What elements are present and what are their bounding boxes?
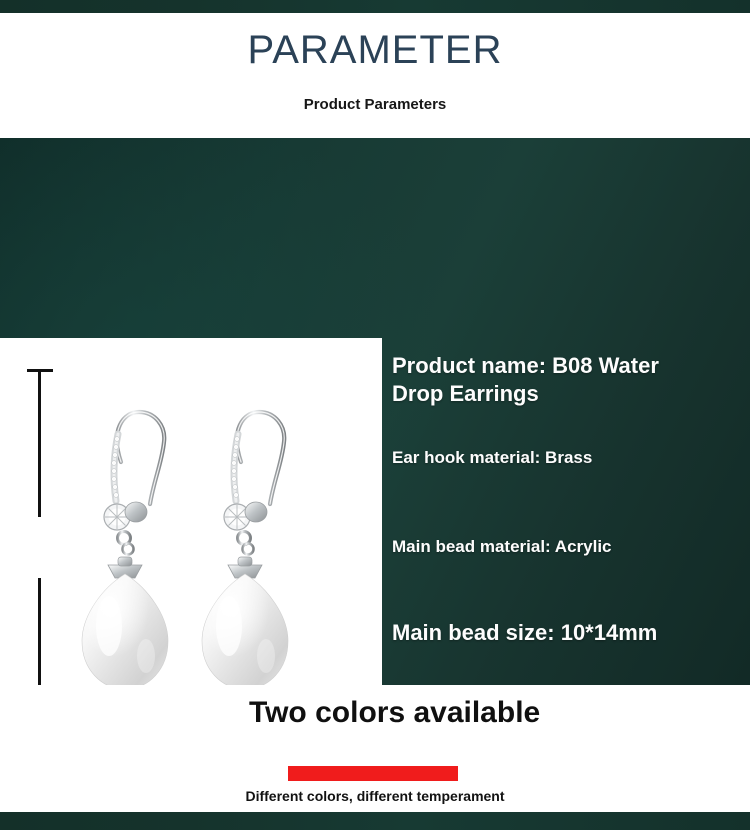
dimension-line-total-upper — [38, 369, 41, 517]
spec-product-name: Product name: B08 Water Drop Earrings — [392, 352, 712, 408]
colors-section: Two colors available Different colors, d… — [0, 685, 750, 812]
header-band: PARAMETER Product Parameters — [0, 13, 750, 138]
spec-main-bead-material: Main bead material: Acrylic — [392, 536, 612, 558]
page-subtitle: Product Parameters — [0, 96, 750, 113]
product-image-box: 3.5cm 10mm One 14mm — [0, 338, 382, 716]
colors-heading: Two colors available — [249, 695, 579, 731]
red-accent-bar — [288, 766, 458, 781]
product-photo: 3.5cm 10mm One 14mm — [0, 338, 382, 716]
top-edge-strip — [0, 0, 750, 13]
bottom-edge-strip — [0, 812, 750, 830]
earrings-illustration — [0, 338, 382, 716]
main-dark-panel: 3.5cm 10mm One 14mm Produc — [0, 138, 750, 685]
spec-ear-hook-material: Ear hook material: Brass — [392, 447, 592, 469]
parameter-page: PARAMETER Product Parameters — [0, 0, 750, 830]
spec-list: Product name: B08 Water Drop Earrings Ea… — [392, 344, 744, 674]
spec-main-bead-size: Main bead size: 10*14mm — [392, 619, 657, 647]
colors-subtitle: Different colors, different temperament — [0, 788, 750, 804]
page-title: PARAMETER — [0, 28, 750, 73]
